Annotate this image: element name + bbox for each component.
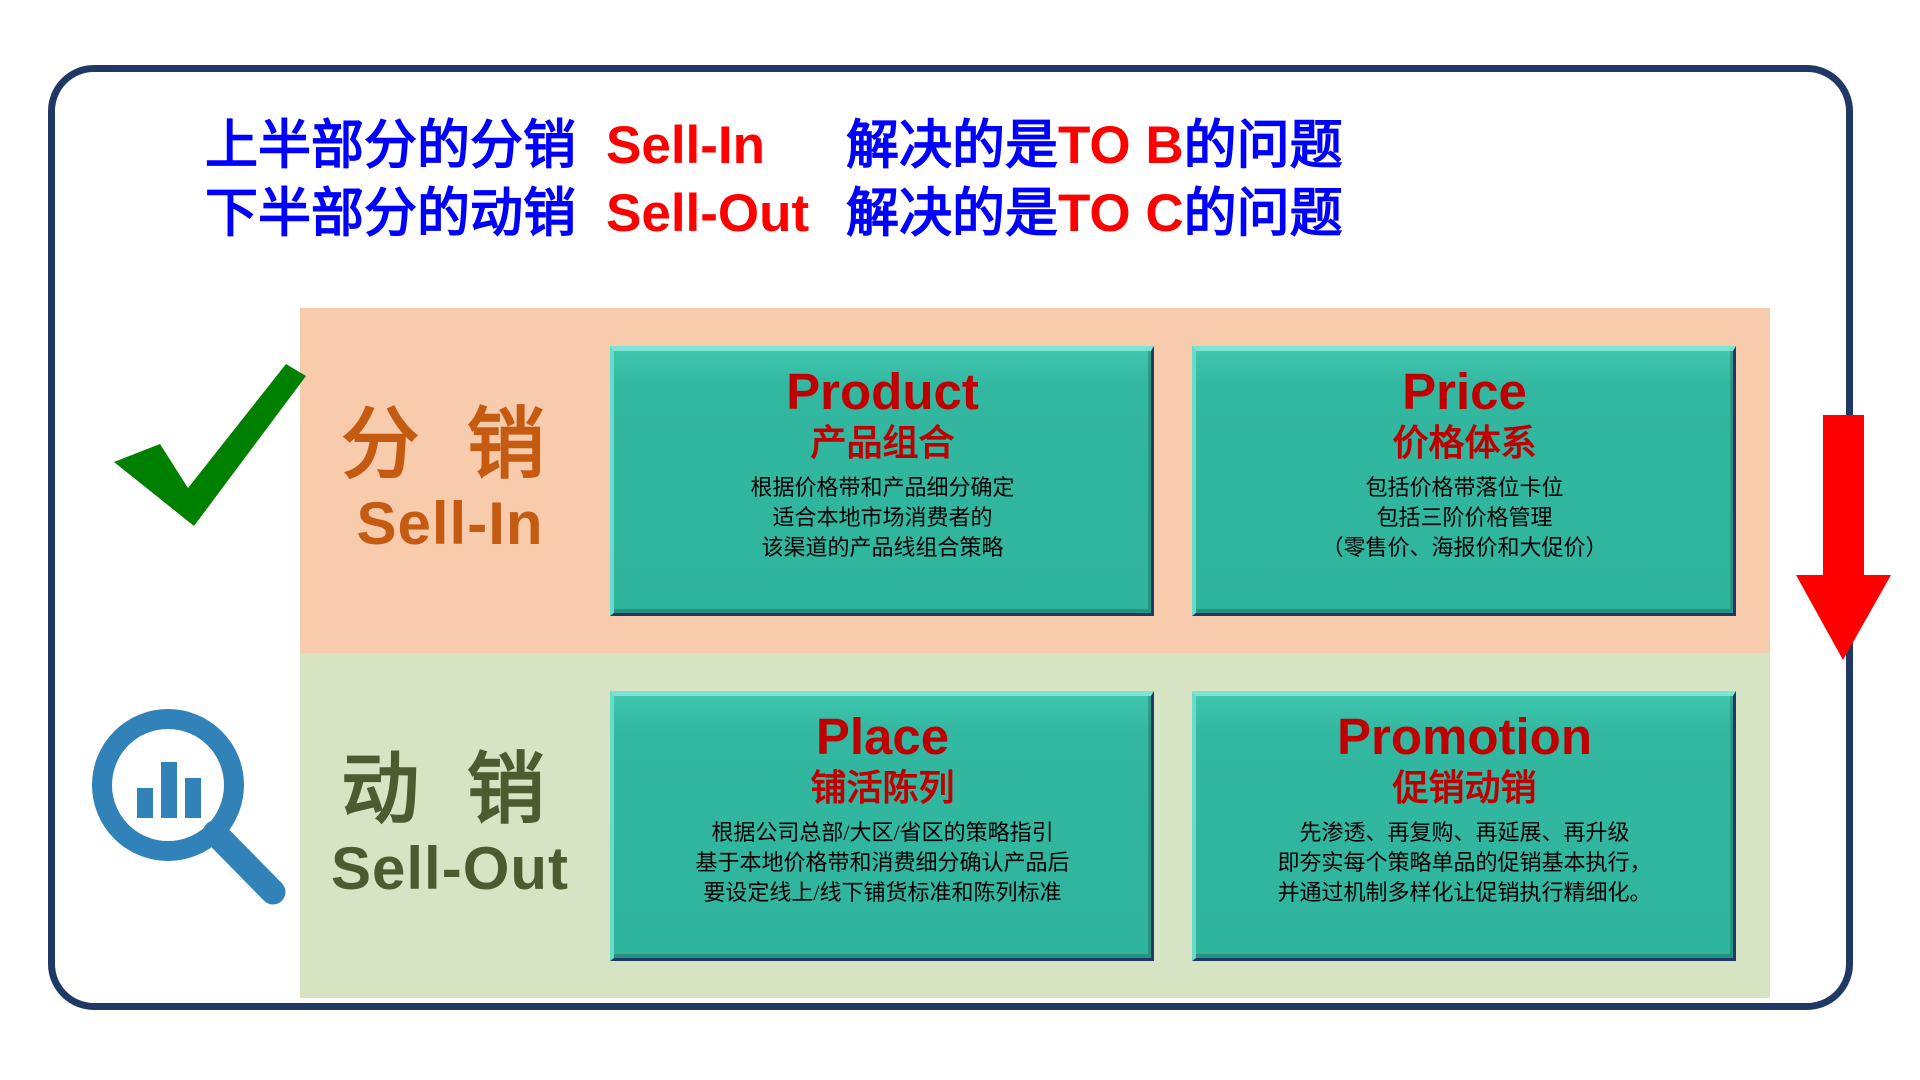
four-p-matrix: 分 销 Sell-In Product 产品组合 根据价格带和产品细分确定 适合…: [300, 308, 1770, 998]
card-place-subtitle: 铺活陈列: [810, 764, 954, 812]
slide-canvas: 上半部分的分销Sell-In解决的是TO B的问题 下半部分的动销Sell-Ou…: [0, 0, 1920, 1080]
card-promotion-line-2: 即夯实每个策略单品的促销基本执行，: [1277, 848, 1651, 878]
band-sell-in-cards: Product 产品组合 根据价格带和产品细分确定 适合本地市场消费者的 该渠道…: [600, 346, 1770, 616]
card-price-body: 包括价格带落位卡位 包括三阶价格管理 （零售价、海报价和大促价）: [1321, 473, 1607, 563]
card-product-title: Product: [786, 363, 979, 421]
band-sell-in: 分 销 Sell-In Product 产品组合 根据价格带和产品细分确定 适合…: [300, 308, 1770, 653]
card-product-line-3: 该渠道的产品线组合策略: [750, 533, 1014, 563]
card-promotion[interactable]: Promotion 促销动销 先渗透、再复购、再延展、再升级 即夯实每个策略单品…: [1192, 691, 1736, 961]
card-place-line-2: 基于本地价格带和消费细分确认产品后: [695, 848, 1069, 878]
band-sell-out-label-en: Sell-Out: [300, 833, 600, 905]
header-line2-cn-lead: 下半部分的动销: [205, 184, 576, 243]
card-place-line-1: 根据公司总部/大区/省区的策略指引: [695, 818, 1069, 848]
card-product-line-1: 根据价格带和产品细分确定: [750, 473, 1014, 503]
card-price[interactable]: Price 价格体系 包括价格带落位卡位 包括三阶价格管理 （零售价、海报价和大…: [1192, 346, 1736, 616]
header-line-2: 下半部分的动销Sell-Out解决的是TO C的问题: [205, 180, 1625, 248]
header-line1-cn-mid: 解决的是: [846, 116, 1058, 175]
card-promotion-line-3: 并通过机制多样化让促销执行精细化。: [1277, 878, 1651, 908]
band-sell-out-cards: Place 铺活陈列 根据公司总部/大区/省区的策略指引 基于本地价格带和消费细…: [600, 691, 1770, 961]
header-line1-cn-lead: 上半部分的分销: [205, 116, 576, 175]
card-place-line-3: 要设定线上/线下铺货标准和陈列标准: [695, 878, 1069, 908]
card-price-line-2: 包括三阶价格管理: [1321, 503, 1607, 533]
down-arrow-icon: [1796, 415, 1891, 660]
band-sell-out-label-cn: 动 销: [300, 747, 600, 833]
card-price-subtitle: 价格体系: [1392, 419, 1536, 467]
card-promotion-body: 先渗透、再复购、再延展、再升级 即夯实每个策略单品的促销基本执行， 并通过机制多…: [1277, 818, 1651, 908]
card-promotion-subtitle: 促销动销: [1392, 764, 1536, 812]
card-promotion-title: Promotion: [1337, 708, 1592, 766]
band-sell-in-label-en: Sell-In: [300, 488, 600, 560]
card-product-body: 根据价格带和产品细分确定 适合本地市场消费者的 该渠道的产品线组合策略: [750, 473, 1014, 563]
card-product[interactable]: Product 产品组合 根据价格带和产品细分确定 适合本地市场消费者的 该渠道…: [610, 346, 1154, 616]
band-sell-in-label: 分 销 Sell-In: [300, 402, 600, 560]
card-price-line-3: （零售价、海报价和大促价）: [1321, 533, 1607, 563]
header-line2-en-tag: TO C: [1058, 184, 1184, 243]
magnifier-bar-chart-icon: [75, 700, 290, 905]
header-line2-cn-mid: 解决的是: [846, 184, 1058, 243]
card-product-subtitle: 产品组合: [810, 419, 954, 467]
card-place-title: Place: [816, 708, 949, 766]
header-line1-en-tag: TO B: [1058, 116, 1184, 175]
header-line2-cn-tail: 的问题: [1184, 184, 1343, 243]
header-line-1: 上半部分的分销Sell-In解决的是TO B的问题: [205, 112, 1625, 180]
card-place-body: 根据公司总部/大区/省区的策略指引 基于本地价格带和消费细分确认产品后 要设定线…: [695, 818, 1069, 908]
card-promotion-line-1: 先渗透、再复购、再延展、再升级: [1277, 818, 1651, 848]
card-price-line-1: 包括价格带落位卡位: [1321, 473, 1607, 503]
band-sell-in-label-cn: 分 销: [300, 402, 600, 488]
card-place[interactable]: Place 铺活陈列 根据公司总部/大区/省区的策略指引 基于本地价格带和消费细…: [610, 691, 1154, 961]
check-mark-icon: [110, 350, 315, 540]
header-block: 上半部分的分销Sell-In解决的是TO B的问题 下半部分的动销Sell-Ou…: [205, 112, 1625, 248]
band-sell-out: 动 销 Sell-Out Place 铺活陈列 根据公司总部/大区/省区的策略指…: [300, 653, 1770, 998]
card-product-line-2: 适合本地市场消费者的: [750, 503, 1014, 533]
header-line1-en: Sell-In: [606, 112, 846, 180]
header-line1-cn-tail: 的问题: [1184, 116, 1343, 175]
card-price-title: Price: [1402, 363, 1527, 421]
band-sell-out-label: 动 销 Sell-Out: [300, 747, 600, 905]
header-line2-en: Sell-Out: [606, 180, 846, 248]
